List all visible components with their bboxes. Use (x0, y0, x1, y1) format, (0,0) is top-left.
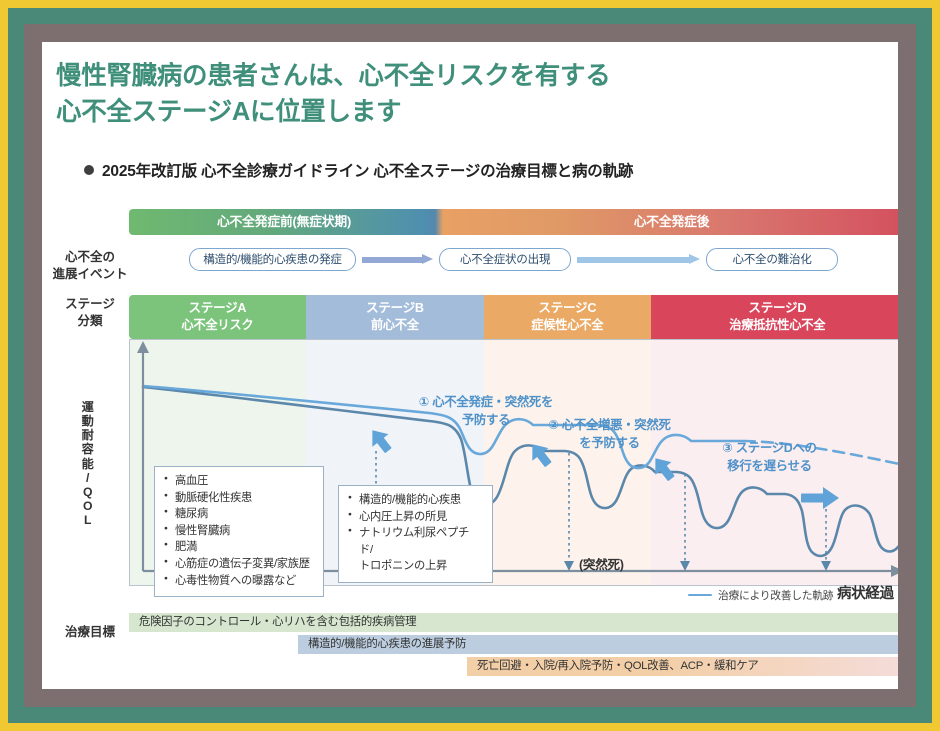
stage-cell-ステージC: ステージC症候性心不全 (484, 295, 651, 339)
event-box-1: 心不全症状の出現 (439, 248, 571, 271)
event-box-0: 構造的/機能的心疾患の発症 (189, 248, 356, 271)
legend-label: 治療により改善した軌跡 (718, 587, 833, 603)
x-axis-arrowhead (891, 565, 898, 577)
y-axis-label: 運動耐容能/QOL (78, 400, 98, 527)
list-item: 心内圧上昇の所見 (348, 509, 482, 526)
list-item: 肥満 (164, 539, 313, 556)
chart-legend: 治療により改善した軌跡 (688, 587, 833, 603)
y-axis-label-char: 耐 (78, 428, 98, 442)
list-item: 慢性腎臓病 (164, 523, 313, 540)
frame-inner-gray: 慢性腎臓病の患者さんは、心不全リスクを有する 心不全ステージAに位置します 20… (24, 24, 916, 707)
y-axis-label-char: O (78, 499, 98, 513)
row-label-stage: ステージ 分類 (52, 296, 128, 330)
event-arrow-0-icon (362, 254, 433, 265)
list-item: 高血圧 (164, 473, 313, 490)
row-label-events: 心不全の 進展イベント (52, 249, 128, 283)
stage-desc: 心不全リスク (181, 317, 253, 333)
list-item: 心毒性物質への曝露など (164, 573, 313, 590)
risk-factor-list: 高血圧動脈硬化性疾患糖尿病慢性腎臓病肥満心筋症の遺伝子変異/家族歴心毒性物質への… (164, 473, 313, 589)
stage-name: ステージB (366, 300, 424, 317)
page-title: 慢性腎臓病の患者さんは、心不全リスクを有する 心不全ステージAに位置します (56, 58, 756, 130)
list-item: 動脈硬化性疾患 (164, 490, 313, 507)
bullet-dot-icon (84, 165, 94, 175)
row-label-goals: 治療目標 (52, 624, 128, 641)
x-axis-label: 病状経過 (837, 582, 894, 603)
annotation-3: ③ ステージDへの 移行を遅らせる (702, 440, 837, 476)
goal-bar-0: 危険因子のコントロール・心リハを含む包括的疾病管理 (129, 613, 898, 632)
phase-label-pre: 心不全発症前(無症状期) (129, 209, 439, 235)
sudden-death-label: (突然死) (579, 554, 624, 573)
y-axis-label-char: Q (78, 485, 98, 499)
y-axis-label-char: 運 (78, 400, 98, 414)
stage-name: ステージC (538, 300, 596, 317)
structural-finding-list: 構造的/機能的心疾患心内圧上昇の所見ナトリウム利尿ペプチド/ トロポニンの上昇 (348, 492, 482, 575)
stage-cell-ステージD: ステージD治療抵抗性心不全 (651, 295, 898, 339)
phase-gradient-bar: 心不全発症前(無症状期) 心不全発症後 (129, 209, 898, 235)
phase-label-post: 心不全発症後 (439, 209, 898, 235)
structural-finding-box: 構造的/機能的心疾患心内圧上昇の所見ナトリウム利尿ペプチド/ トロポニンの上昇 (338, 485, 493, 583)
legend-line-swatch (688, 594, 712, 597)
y-axis-label-char: 容 (78, 442, 98, 456)
y-axis-label-char: 能 (78, 457, 98, 471)
slide-page: 慢性腎臓病の患者さんは、心不全リスクを有する 心不全ステージAに位置します 20… (42, 42, 898, 689)
y-axis-label-char: 動 (78, 414, 98, 428)
frame-outer-yellow: 慢性腎臓病の患者さんは、心不全リスクを有する 心不全ステージAに位置します 20… (0, 0, 940, 731)
subtitle: 2025年改訂版 心不全診療ガイドライン 心不全ステージの治療目標と病の軌跡 (102, 159, 633, 181)
y-axis-label-char: L (78, 513, 98, 527)
stage-cell-ステージB: ステージB前心不全 (306, 295, 484, 339)
goal-bar-2: 死亡回避・入院/再入院予防・QOL改善、ACP・緩和ケア (467, 657, 898, 676)
risk-factor-box: 高血圧動脈硬化性疾患糖尿病慢性腎臓病肥満心筋症の遺伝子変異/家族歴心毒性物質への… (154, 466, 324, 597)
stage-desc: 前心不全 (371, 317, 419, 333)
stage-band-header: ステージA心不全リスクステージB前心不全ステージC症候性心不全ステージD治療抵抗… (129, 295, 898, 339)
stage-desc: 症候性心不全 (531, 317, 603, 333)
list-item: 構造的/機能的心疾患 (348, 492, 482, 509)
subtitle-row: 2025年改訂版 心不全診療ガイドライン 心不全ステージの治療目標と病の軌跡 (84, 159, 633, 181)
event-arrow-1-icon (577, 254, 700, 265)
stage-d-transition-arrow (801, 487, 839, 509)
frame-mid-green: 慢性腎臓病の患者さんは、心不全リスクを有する 心不全ステージAに位置します 20… (8, 8, 932, 723)
goal-bar-1: 構造的/機能的心疾患の進展予防 (298, 635, 898, 654)
stage-name: ステージD (748, 300, 806, 317)
annotation-2: ② 心不全増悪・突然死 を予防する (532, 417, 687, 453)
list-item: 糖尿病 (164, 506, 313, 523)
list-item: 心筋症の遺伝子変異/家族歴 (164, 556, 313, 573)
y-axis-arrowhead (137, 341, 149, 353)
stage-desc: 治療抵抗性心不全 (729, 317, 825, 333)
stage-cell-ステージA: ステージA心不全リスク (129, 295, 306, 339)
list-item: ナトリウム利尿ペプチド/ トロポニンの上昇 (348, 525, 482, 575)
event-box-2: 心不全の難治化 (706, 248, 838, 271)
stage-name: ステージA (188, 300, 246, 317)
y-axis-label-char: / (78, 471, 98, 485)
